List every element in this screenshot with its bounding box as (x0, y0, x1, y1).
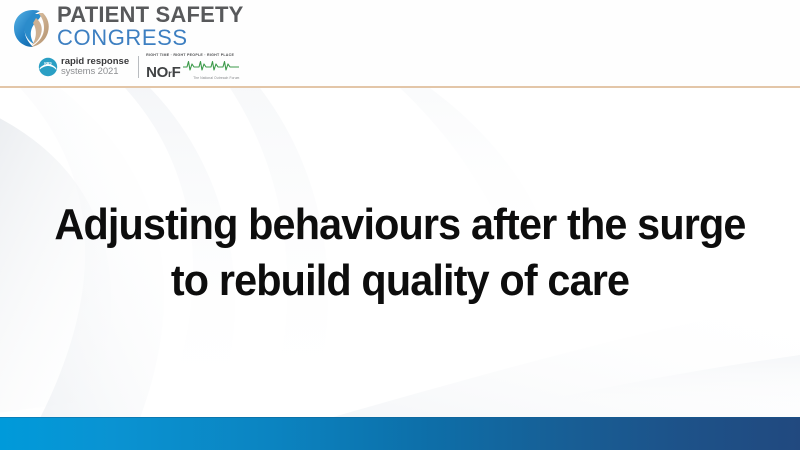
slide-title-line1: Adjusting behaviours after the surge (43, 197, 757, 252)
norf-wordmark-end: F (172, 64, 181, 81)
partner-logo-strip: RRS rapid response systems 2021 RIGHT TI… (38, 54, 239, 80)
footer-bar-highlight (0, 417, 800, 418)
slide-body: Adjusting behaviours after the surge to … (0, 88, 800, 417)
svg-text:RRS: RRS (44, 62, 52, 66)
presentation-slide: PATIENT SAFETY CONGRESS RRS rapid respon… (0, 0, 800, 450)
brand-primary-row: PATIENT SAFETY CONGRESS (10, 4, 244, 51)
rrs-circle-badge-icon: RRS (38, 57, 58, 77)
brand-line2: CONGRESS (57, 27, 244, 49)
slide-title-line2: to rebuild quality of care (43, 253, 757, 308)
norf-wordmark: NOrF (146, 66, 180, 80)
header-divider-rule (0, 86, 800, 88)
footer-gradient-bar (0, 417, 800, 450)
norf-ecg-block: The National Outreach Forum (180, 58, 239, 80)
norf-subtitle: The National Outreach Forum (193, 77, 239, 80)
brand-wordmark: PATIENT SAFETY CONGRESS (57, 4, 244, 49)
ecg-heartbeat-line-icon (183, 58, 239, 76)
norf-wordmark-main: NO (146, 64, 168, 81)
rapid-response-systems-logo: RRS rapid response systems 2021 (38, 55, 129, 79)
slide-header: PATIENT SAFETY CONGRESS RRS rapid respon… (0, 0, 800, 87)
norf-tagline: RIGHT TIME · RIGHT PEOPLE · RIGHT PLACE (146, 54, 239, 58)
rrs-wordmark: rapid response systems 2021 (61, 57, 129, 76)
rrs-line2: systems 2021 (61, 67, 129, 77)
norf-logo: RIGHT TIME · RIGHT PEOPLE · RIGHT PLACE … (146, 54, 239, 80)
congress-swirl-logo-icon (10, 5, 54, 51)
slide-title: Adjusting behaviours after the surge to … (43, 197, 757, 308)
logo-divider (138, 56, 139, 78)
norf-wordmark-row: NOrF The National Outreach Forum (146, 58, 239, 80)
brand-line1: PATIENT SAFETY (57, 4, 244, 26)
